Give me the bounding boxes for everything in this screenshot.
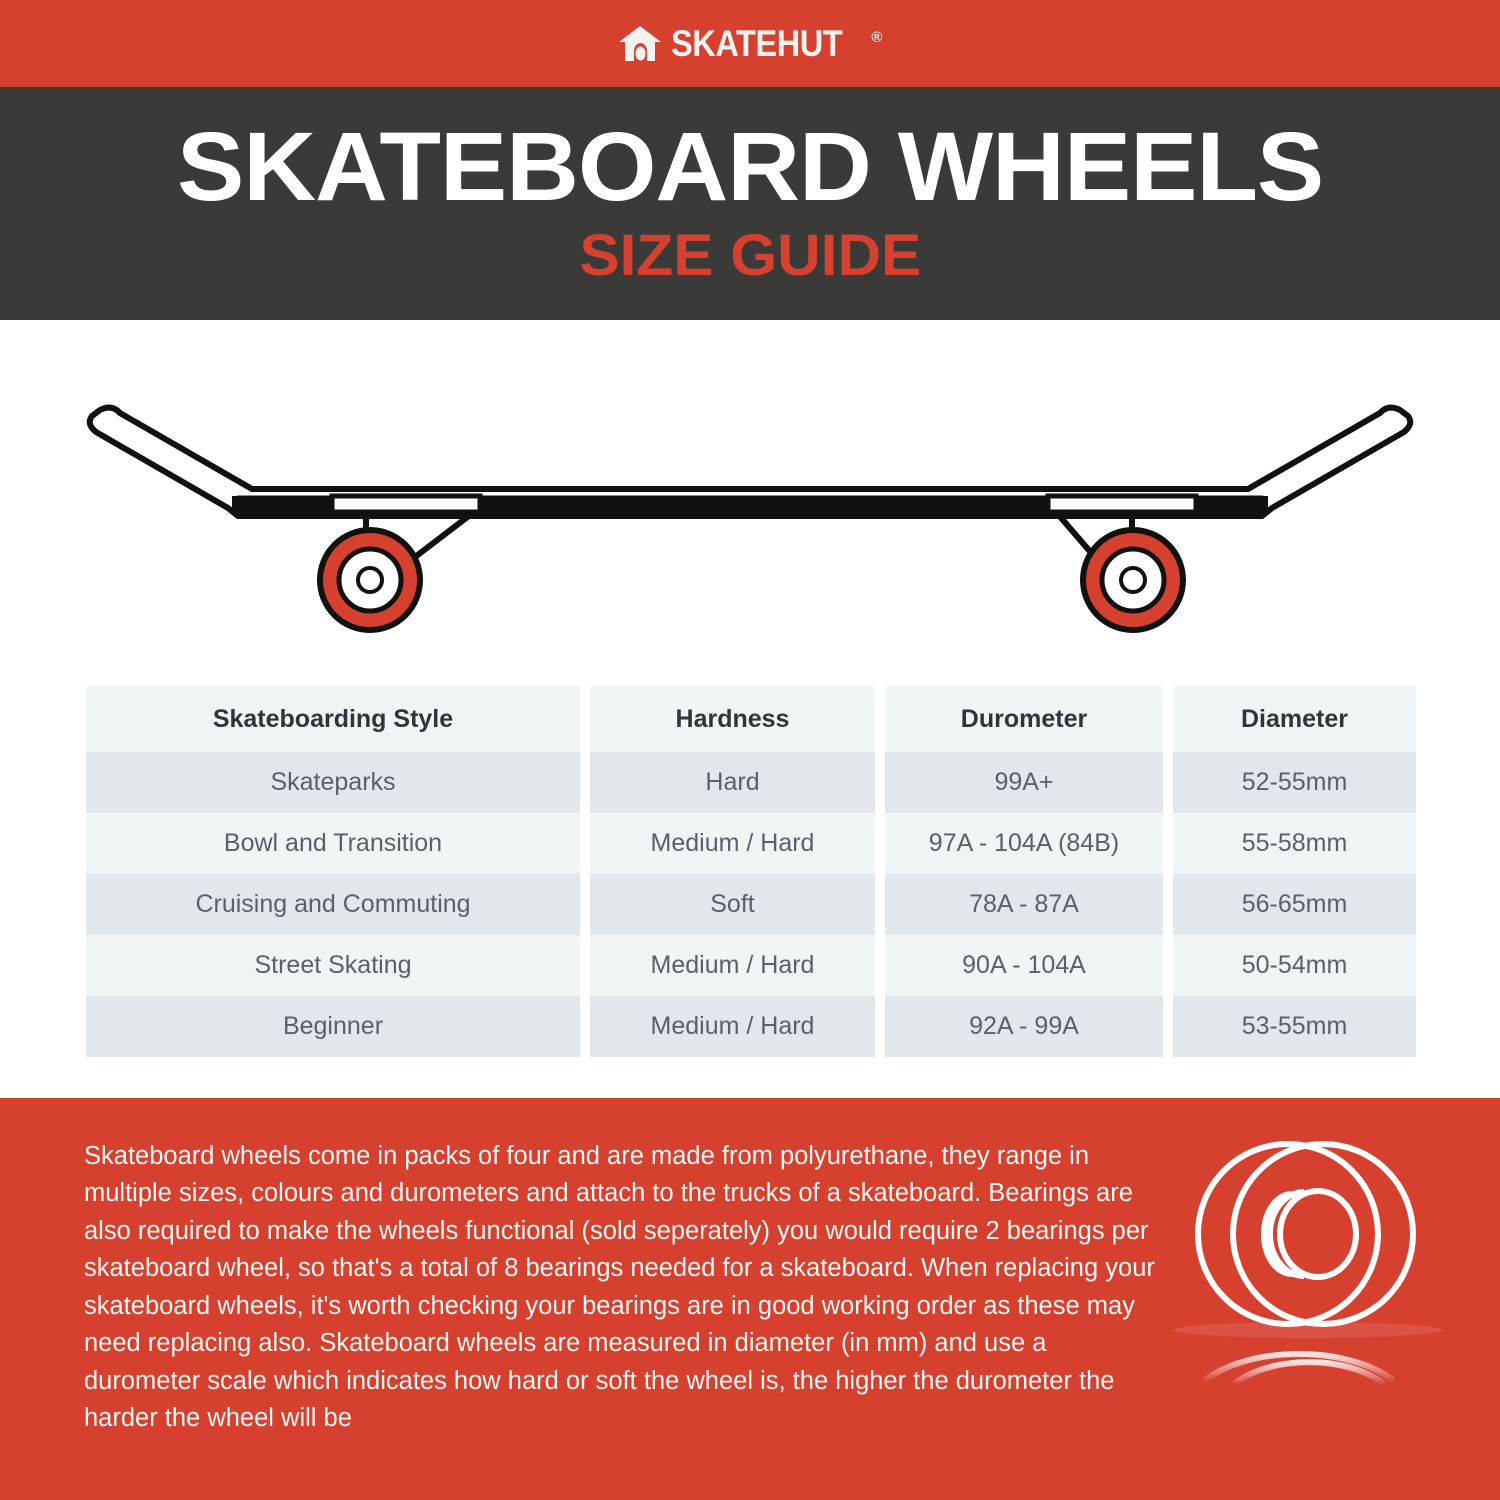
skateboard-svg: [0, 320, 1500, 670]
title-band: SKATEBOARD WHEELS SIZE GUIDE: [0, 87, 1500, 320]
page-title: SKATEBOARD WHEELS: [177, 118, 1323, 215]
brand-name: SKATEHUT: [671, 23, 842, 65]
table-row: Medium / Hard: [590, 813, 875, 874]
table-row: Medium / Hard: [590, 996, 875, 1057]
brand-bar: SKATEHUT ®: [0, 0, 1500, 87]
column-header-durometer: Durometer: [885, 686, 1163, 752]
table-row: 92A - 99A: [885, 996, 1163, 1057]
skateboard-illustration: [0, 320, 1500, 670]
rear-wheel: [1083, 530, 1183, 630]
table-row: Cruising and Commuting: [86, 874, 580, 935]
registered-mark: ®: [871, 29, 882, 46]
footer-banner: Skateboard wheels come in packs of four …: [0, 1098, 1500, 1500]
table-row: 78A - 87A: [885, 874, 1163, 935]
table-row: Hard: [590, 752, 875, 813]
table-row: Skateparks: [86, 752, 580, 813]
table-row: Bowl and Transition: [86, 813, 580, 874]
table-row: 55-58mm: [1173, 813, 1416, 874]
footer-description: Skateboard wheels come in packs of four …: [84, 1138, 1159, 1438]
hut-icon: [618, 24, 662, 64]
table-column-diameter: Diameter 52-55mm 55-58mm 56-65mm 50-54mm…: [1173, 686, 1416, 1057]
table-row: Soft: [590, 874, 875, 935]
table-row: 97A - 104A (84B): [885, 813, 1163, 874]
table-column-style: Skateboarding Style Skateparks Bowl and …: [86, 686, 580, 1057]
table-row: 53-55mm: [1173, 996, 1416, 1057]
table-row: Beginner: [86, 996, 580, 1057]
table-row: 50-54mm: [1173, 935, 1416, 996]
table-column-durometer: Durometer 99A+ 97A - 104A (84B) 78A - 87…: [885, 686, 1163, 1057]
table-row: 56-65mm: [1173, 874, 1416, 935]
column-header-diameter: Diameter: [1173, 686, 1416, 752]
table-column-hardness: Hardness Hard Medium / Hard Soft Medium …: [590, 686, 875, 1057]
column-header-hardness: Hardness: [590, 686, 875, 752]
table-row: 99A+: [885, 752, 1163, 813]
table-row: 52-55mm: [1173, 752, 1416, 813]
infographic-page: SKATEHUT ® SKATEBOARD WHEELS SIZE GUIDE: [0, 0, 1500, 1500]
wheel-outline-icon: [1168, 1136, 1468, 1436]
column-header-style: Skateboarding Style: [86, 686, 580, 752]
front-wheel: [320, 530, 420, 630]
table-row: 90A - 104A: [885, 935, 1163, 996]
wheel-size-table: Skateboarding Style Skateparks Bowl and …: [86, 686, 1416, 1057]
brand-logo[interactable]: SKATEHUT ®: [618, 23, 883, 65]
table-row: Street Skating: [86, 935, 580, 996]
page-subtitle: SIZE GUIDE: [579, 227, 921, 285]
table-row: Medium / Hard: [590, 935, 875, 996]
